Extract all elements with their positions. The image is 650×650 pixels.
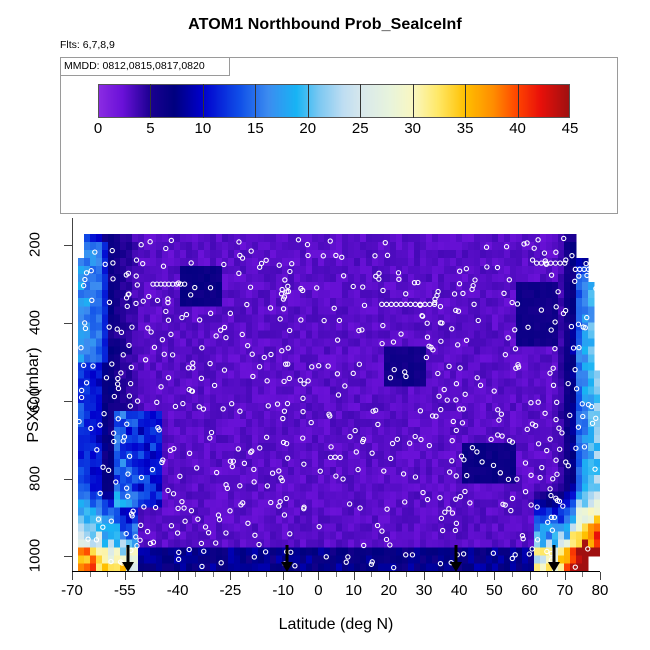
x-axis-tick [424,572,425,580]
colorbar-gradient [98,84,570,118]
profile-arrows [72,545,600,572]
x-axis-minor-tick [582,572,583,577]
x-axis-tick-label: 0 [314,582,322,599]
x-axis-tick-label: 80 [592,582,609,599]
x-axis-tick-label: 20 [380,582,397,599]
x-axis-tick [530,572,531,580]
colorbar-tick-label: 5 [146,120,154,137]
x-axis-tick [494,572,495,580]
colorbar-tick-label: 20 [299,120,316,137]
x-axis-minor-tick [107,572,108,577]
colorbar-tick-label: 10 [195,120,212,137]
mmdd-label: MMDD: 0812,0815,0817,0820 [64,60,205,72]
profile-arrow-icon [122,545,135,572]
x-axis-tick [178,572,179,580]
y-axis-tick-label: 200 [27,220,44,270]
x-axis-tick-label: 40 [451,582,468,599]
x-axis-minor-tick [547,572,548,577]
heatmap-data [72,218,600,572]
y-axis-tick [64,323,72,324]
profile-arrow-icon [548,545,561,572]
x-axis-minor-tick [371,572,372,577]
x-axis-minor-tick [195,572,196,577]
x-axis-tick-label: 50 [486,582,503,599]
x-axis-minor-tick [266,572,267,577]
plot-area: 2004006008001000 PSXC (mbar) -70-55-40-2… [72,218,600,572]
x-axis-minor-tick [512,572,513,577]
x-axis-minor-tick [442,572,443,577]
x-axis-minor-tick [248,572,249,577]
y-axis-tick [64,245,72,246]
page-title: ATOM1 Northbound Prob_SeaIceInf [0,16,650,34]
colorbar-tick-label: 45 [562,120,579,137]
x-axis-tick [354,572,355,580]
y-axis-tick-label: 400 [27,298,44,348]
x-axis-minor-tick [406,572,407,577]
x-axis-tick-label: 10 [345,582,362,599]
x-axis-tick-label: 60 [521,582,538,599]
figure-root: ATOM1 Northbound Prob_SeaIceInf Flts: 6,… [0,0,650,650]
x-axis-tick [565,572,566,580]
x-axis-tick [389,572,390,580]
x-axis-minor-tick [477,572,478,577]
colorbar-tick-label: 35 [457,120,474,137]
x-axis-tick-label: -55 [114,582,136,599]
x-axis-tick-label: -40 [167,582,189,599]
x-axis-tick [459,572,460,580]
colorbar-tick-label: 25 [352,120,369,137]
profile-arrow-icon [449,545,462,572]
x-axis-minor-tick [160,572,161,577]
y-axis-tick-label: 800 [27,453,44,503]
x-axis-minor-tick [213,572,214,577]
y-axis-title: PSXC (mbar) [25,347,43,442]
x-axis-tick-label: 30 [416,582,433,599]
y-axis-tick-label: 1000 [27,531,44,581]
x-axis-tick-label: 70 [556,582,573,599]
y-axis-tick [64,556,72,557]
x-axis-tick [230,572,231,580]
x-axis-tick-label: -10 [272,582,294,599]
colorbar-tick-label: 0 [94,120,102,137]
x-axis-minor-tick [142,572,143,577]
y-axis-tick [64,401,72,402]
colorbar-tick-label: 15 [247,120,264,137]
x-axis-tick-label: -70 [61,582,83,599]
x-axis-tick [318,572,319,580]
y-axis-line [72,218,73,572]
x-axis-minor-tick [90,572,91,577]
x-axis-tick [600,572,601,580]
flights-label: Flts: 6,7,8,9 [60,39,115,51]
colorbar-tick-label: 30 [404,120,421,137]
colorbar-tick-labels: 051015202530354045 [98,120,570,142]
x-axis-tick [283,572,284,580]
x-axis-line [72,571,600,572]
y-axis-tick [64,479,72,480]
x-axis-minor-tick [301,572,302,577]
colorbar [98,84,570,118]
x-axis-tick [125,572,126,580]
profile-arrow-icon [280,545,293,572]
x-axis-tick-label: -25 [220,582,242,599]
colorbar-tick-label: 40 [509,120,526,137]
x-axis-minor-tick [336,572,337,577]
x-axis-tick [72,572,73,580]
x-axis-title: Latitude (deg N) [72,616,600,634]
